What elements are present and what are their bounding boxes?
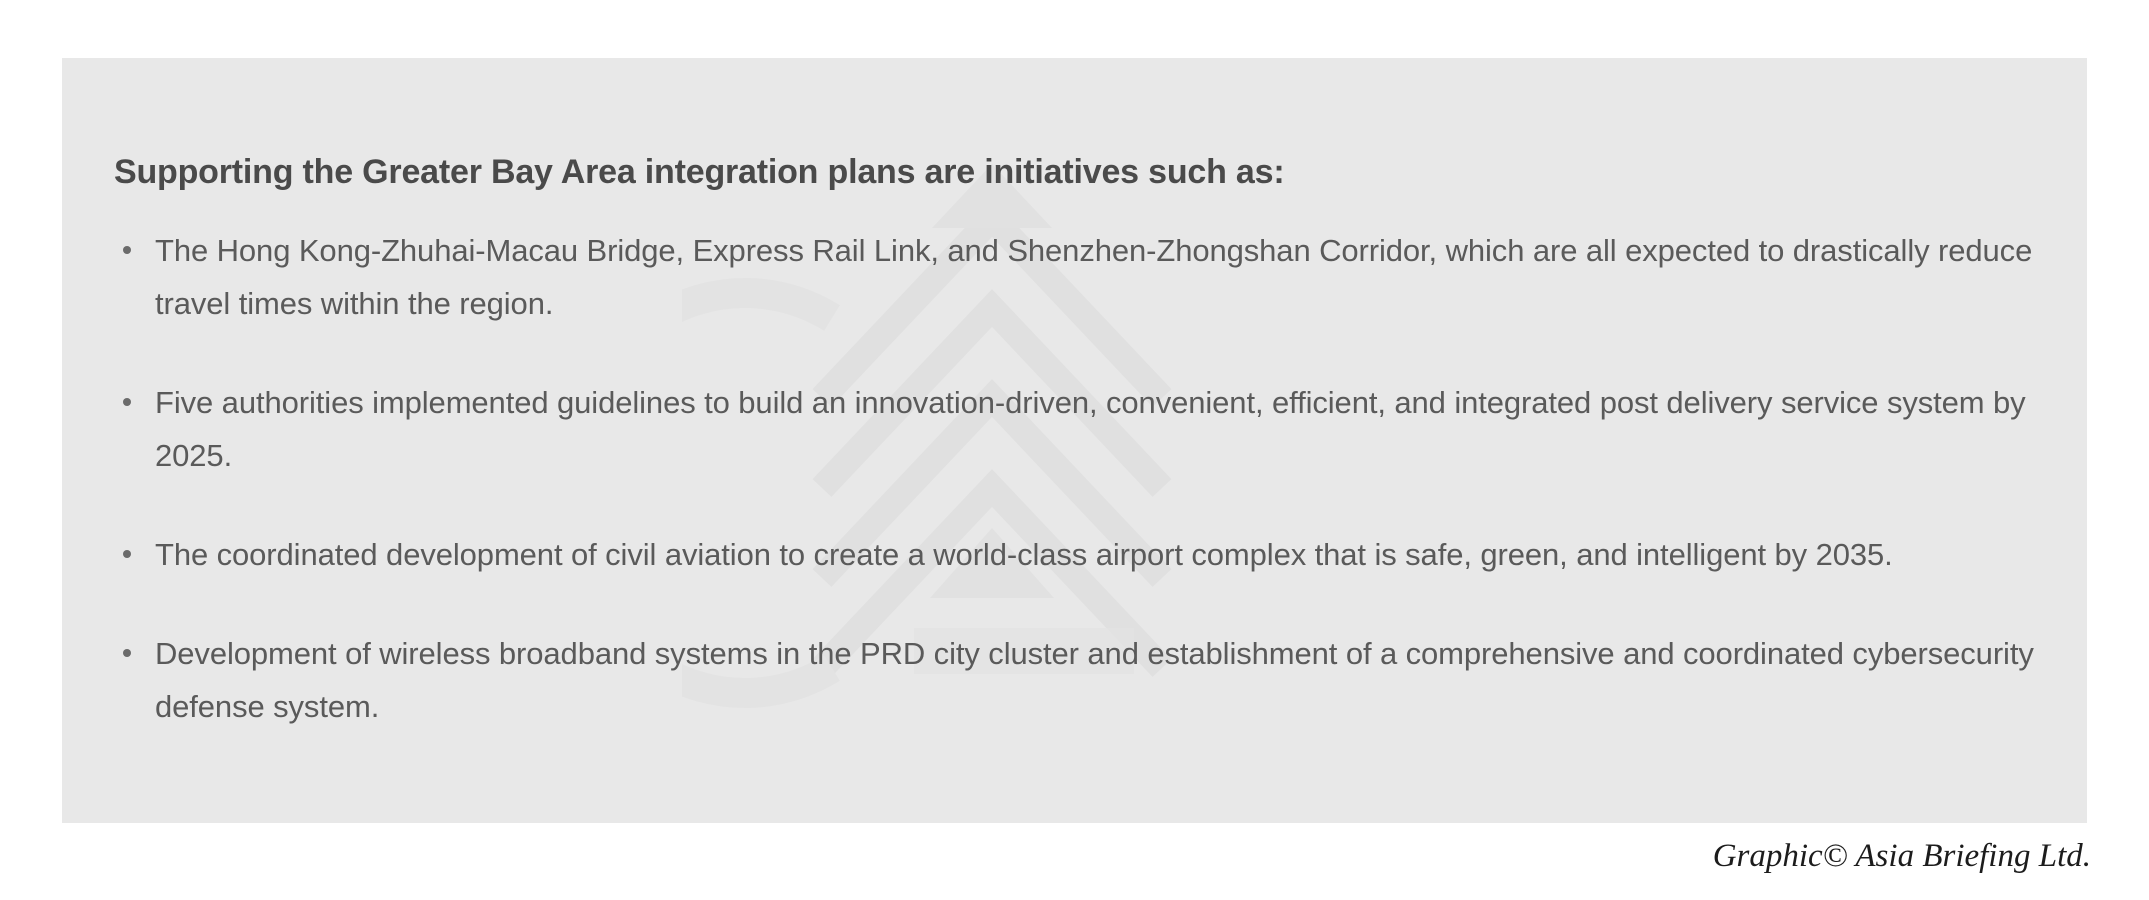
list-item-text: The coordinated development of civil avi… [155,528,2054,581]
list-item: Five authorities implemented guidelines … [114,376,2054,482]
list-item: The Hong Kong-Zhuhai-Macau Bridge, Expre… [114,224,2054,330]
list-item: The coordinated development of civil avi… [114,528,2054,581]
infographic-root: Supporting the Greater Bay Area integrat… [0,0,2149,900]
bullet-dot-icon [123,246,131,254]
page-title: Supporting the Greater Bay Area integrat… [114,153,1284,192]
initiatives-list: The Hong Kong-Zhuhai-Macau Bridge, Expre… [114,224,2054,733]
panel-content: Supporting the Greater Bay Area integrat… [62,58,2087,823]
list-item-text: The Hong Kong-Zhuhai-Macau Bridge, Expre… [155,224,2054,330]
bullet-dot-icon [123,398,131,406]
list-item-text: Five authorities implemented guidelines … [155,376,2054,482]
graphic-credit: Graphic© Asia Briefing Ltd. [1713,838,2091,875]
bullet-dot-icon [123,550,131,558]
content-panel: Supporting the Greater Bay Area integrat… [62,58,2087,823]
list-item-text: Development of wireless broadband system… [155,627,2054,733]
bullet-dot-icon [123,649,131,657]
list-item: Development of wireless broadband system… [114,627,2054,733]
